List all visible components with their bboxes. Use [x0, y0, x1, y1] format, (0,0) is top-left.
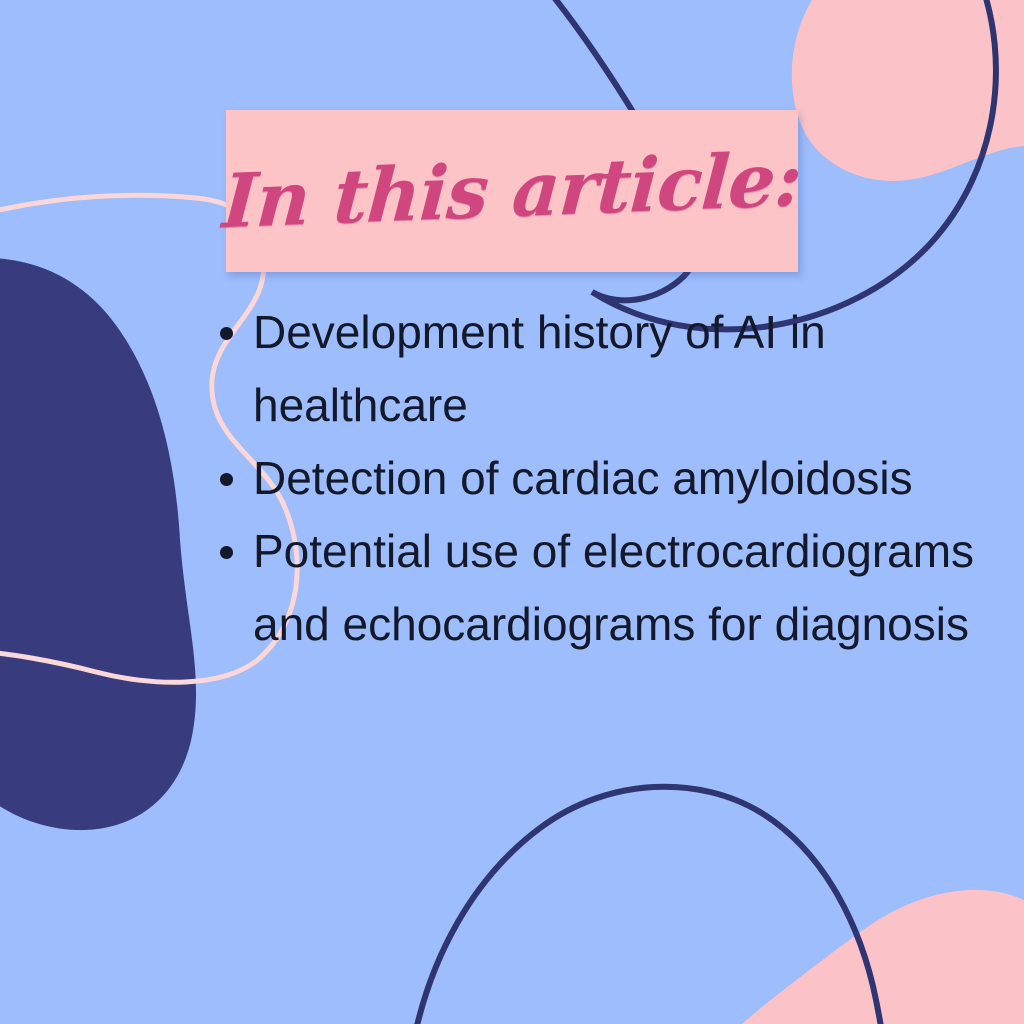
list-item-label: Potential use of electrocardiograms and …: [253, 525, 974, 650]
page-title: In this article:: [221, 99, 803, 283]
list-item-label: Detection of cardiac amyloidosis: [253, 452, 913, 504]
article-contents-list: Development history of AI in healthcare …: [212, 296, 1002, 661]
bullet-dot-icon: [220, 546, 233, 559]
list-item-label: Development history of AI in healthcare: [253, 306, 826, 431]
bullet-dot-icon: [220, 473, 233, 486]
title-banner: In this article:: [226, 110, 798, 272]
list-item: Potential use of electrocardiograms and …: [212, 515, 1002, 661]
list-item: Detection of cardiac amyloidosis: [212, 442, 1002, 515]
bullet-dot-icon: [220, 327, 233, 340]
list-item: Development history of AI in healthcare: [212, 296, 1002, 442]
poster-canvas: In this article: Development history of …: [0, 0, 1024, 1024]
